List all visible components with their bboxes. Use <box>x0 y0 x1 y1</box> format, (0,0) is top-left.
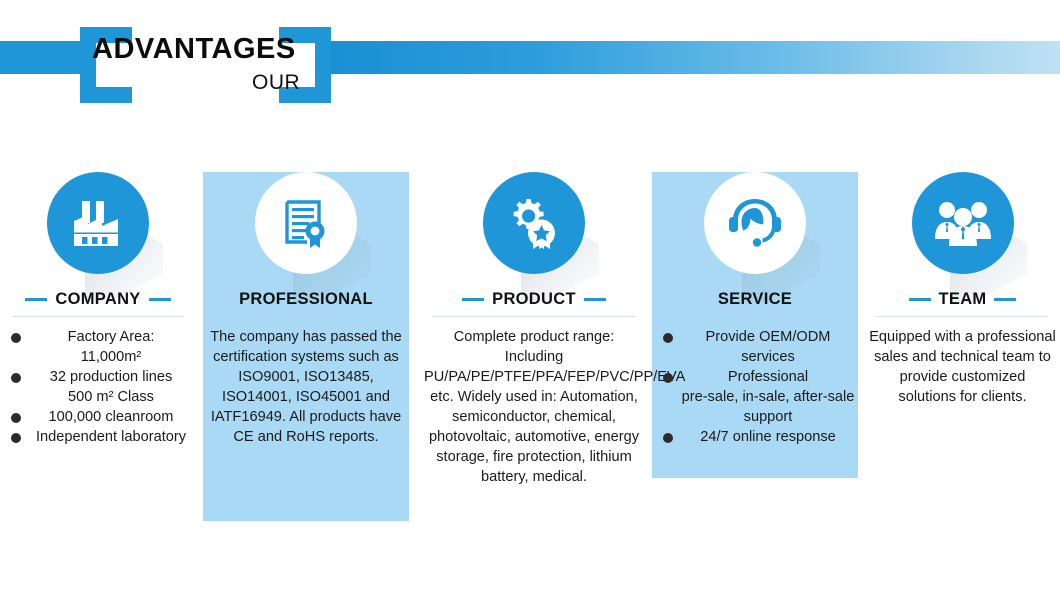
icon-wrapper-team <box>912 172 1014 274</box>
list-item-continuation: services <box>652 347 858 367</box>
bullet-list-company: Factory Area: 11,000m² 32 production lin… <box>0 327 196 447</box>
card-title-professional: PROFESSIONAL <box>203 290 409 309</box>
gear-star-badge-icon <box>483 172 585 274</box>
list-item-text: Professional <box>728 369 808 385</box>
card-title-company: COMPANY <box>0 290 196 309</box>
icon-wrapper-product <box>483 172 585 274</box>
title-dash-left <box>462 298 484 301</box>
list-item-continuation: 11,000m² <box>0 347 196 367</box>
title-dash-left <box>25 298 47 301</box>
card-body-professional: The company has passed the certification… <box>203 327 409 447</box>
advantage-card-product: PRODUCT Complete product range: Includin… <box>420 172 648 487</box>
title-dash-right <box>584 298 606 301</box>
team-people-icon <box>912 172 1014 274</box>
list-item: Professional <box>652 367 858 387</box>
title-dash-right <box>149 298 171 301</box>
card-title-service: SERVICE <box>652 290 858 309</box>
header-band-right <box>326 41 1060 74</box>
list-item: Provide OEM/ODM <box>652 327 858 347</box>
icon-wrapper-professional <box>255 172 357 274</box>
list-item: 100,000 cleanroom <box>0 407 196 427</box>
list-item-text: Provide OEM/ODM <box>706 329 831 345</box>
page-subtitle: OUR <box>252 71 300 95</box>
list-item-text: 24/7 online response <box>700 429 836 445</box>
advantage-card-team: TEAM Equipped with a professional sales … <box>865 172 1060 407</box>
bullet-dot-icon <box>663 333 673 343</box>
bullet-list-service: Provide OEM/ODM services Professional pr… <box>652 327 858 447</box>
icon-wrapper-service <box>704 172 806 274</box>
title-dash-left <box>909 298 931 301</box>
list-item-text: 32 production lines <box>50 369 173 385</box>
certificate-icon <box>255 172 357 274</box>
card-title-label: PRODUCT <box>492 290 576 309</box>
card-title-label: PROFESSIONAL <box>239 290 373 309</box>
headset-support-icon <box>704 172 806 274</box>
card-title-team: TEAM <box>865 290 1060 309</box>
list-item-text: Independent laboratory <box>36 429 186 445</box>
title-underline <box>432 316 636 317</box>
list-item: Factory Area: <box>0 327 196 347</box>
advantage-card-company: COMPANY Factory Area: 11,000m² 32 produc… <box>0 172 196 447</box>
list-item: 32 production lines <box>0 367 196 387</box>
page-title: ADVANTAGES <box>92 33 296 66</box>
card-body-team: Equipped with a professional sales and t… <box>865 327 1060 407</box>
title-dash-right <box>994 298 1016 301</box>
title-underline <box>877 316 1048 317</box>
list-item: Independent laboratory <box>0 427 196 447</box>
header-bracket-left-bottom-arm <box>80 87 132 103</box>
list-item-text: Factory Area: <box>68 329 155 345</box>
list-item: 24/7 online response <box>652 427 858 447</box>
card-title-label: SERVICE <box>718 290 792 309</box>
bullet-dot-icon <box>663 373 673 383</box>
bullet-dot-icon <box>11 373 21 383</box>
advantage-card-service: SERVICE Provide OEM/ODM services Profess… <box>652 172 858 447</box>
card-title-product: PRODUCT <box>420 290 648 309</box>
bullet-dot-icon <box>11 433 21 443</box>
title-underline <box>12 316 184 317</box>
advantage-card-professional: PROFESSIONAL The company has passed the … <box>203 172 409 447</box>
list-item-text: 100,000 cleanroom <box>49 409 174 425</box>
bullet-dot-icon <box>11 333 21 343</box>
card-title-label: TEAM <box>939 290 987 309</box>
bullet-dot-icon <box>663 433 673 443</box>
factory-icon <box>47 172 149 274</box>
icon-wrapper-company <box>47 172 149 274</box>
header-band-left <box>0 41 90 74</box>
list-item-continuation: 500 m² Class <box>0 387 196 407</box>
list-item-continuation: pre-sale, in-sale, after-sale support <box>652 387 858 427</box>
page-header: ADVANTAGES OUR <box>0 0 1060 130</box>
card-title-label: COMPANY <box>55 290 140 309</box>
card-body-product: Complete product range: Including PU/PA/… <box>420 327 648 487</box>
bullet-dot-icon <box>11 413 21 423</box>
